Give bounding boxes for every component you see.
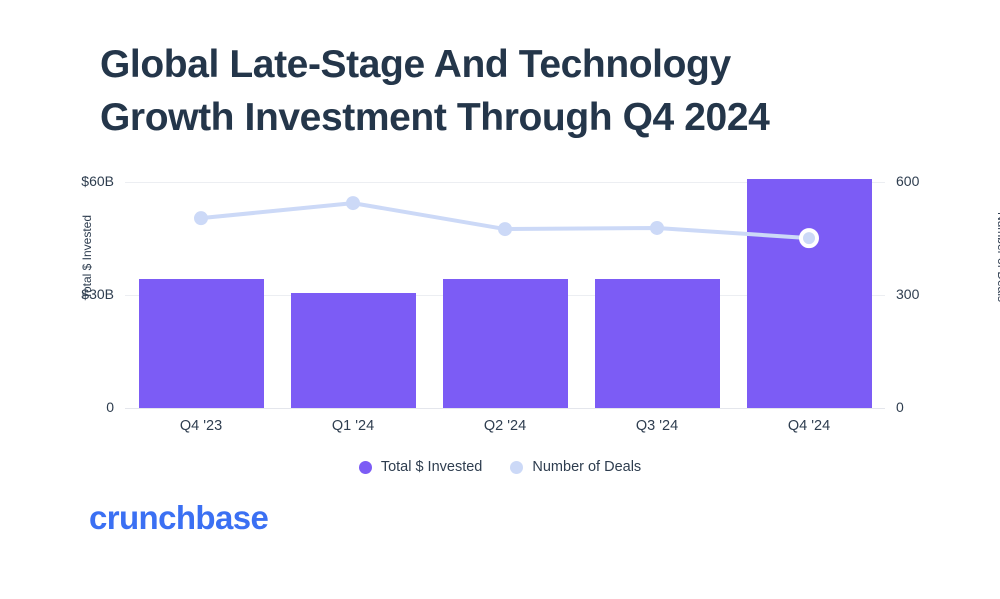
deals-marker-0[interactable] [194,211,208,225]
y-axis-right-tick-0: 0 [896,399,904,415]
y-axis-left-title: Total $ Invested [80,197,94,317]
deals-marker-2[interactable] [498,222,512,236]
crunchbase-logo: crunchbase [89,499,268,537]
deals-marker-3[interactable] [650,221,664,235]
y-axis-left-tick-0: 0 [106,399,114,415]
y-axis-right-tick-600: 600 [896,173,919,189]
legend-swatch-icon [359,461,372,474]
line-series [125,142,885,428]
x-axis-tick-1: Q1 '24 [277,418,429,434]
page-title: Global Late-Stage And Technology Growth … [100,38,920,144]
chart-legend: Total $ Invested Number of Deals [0,459,1000,475]
x-axis-ticks: Q4 '23 Q1 '24 Q2 '24 Q3 '24 Q4 '24 [125,418,885,440]
legend-swatch-icon [510,461,523,474]
x-axis-tick-2: Q2 '24 [429,418,581,434]
legend-label-total-invested: Total $ Invested [381,459,483,475]
chart-page: Global Late-Stage And Technology Growth … [0,0,1000,599]
y-axis-right-tick-300: 300 [896,286,919,302]
y-axis-right-title: Number of Deals [995,197,1000,317]
x-axis-tick-4: Q4 '24 [733,418,885,434]
legend-item-total-invested[interactable]: Total $ Invested [359,459,483,475]
deals-marker-1[interactable] [346,196,360,210]
x-axis-tick-3: Q3 '24 [581,418,733,434]
chart-plot-area: $60B $30B 0 600 300 0 Total $ Invested N… [125,182,885,408]
legend-label-number-of-deals: Number of Deals [532,459,641,475]
deals-marker-4[interactable] [801,230,817,246]
y-axis-left-tick-60: $60B [81,173,114,189]
legend-item-number-of-deals[interactable]: Number of Deals [510,459,641,475]
x-axis-tick-0: Q4 '23 [125,418,277,434]
deals-marker-group [194,196,817,246]
